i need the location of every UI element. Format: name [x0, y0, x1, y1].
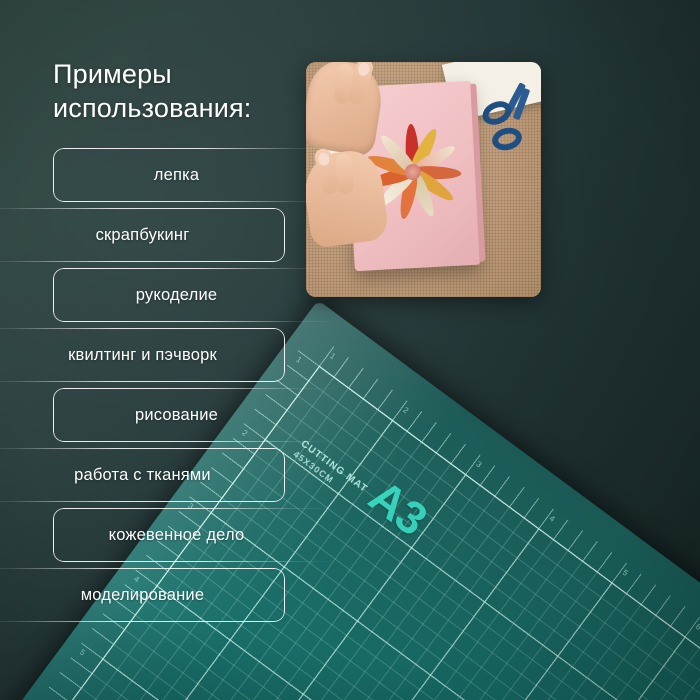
list-item-label: моделирование: [81, 586, 204, 605]
list-item-label: лепка: [154, 166, 200, 185]
list-item-label: скрапбукинг: [96, 226, 190, 245]
list-item[interactable]: работа с тканями: [0, 448, 285, 502]
list-item[interactable]: моделирование: [0, 568, 285, 622]
page-title: Примеры использования:: [53, 57, 323, 125]
page-title-line-1: Примеры: [53, 57, 323, 91]
usage-list: лепка скрапбукинг рукоделие квилтинг и п…: [0, 148, 300, 628]
list-item-label: квилтинг и пэчворк: [68, 346, 217, 365]
list-item[interactable]: лепка: [53, 148, 340, 202]
list-item[interactable]: квилтинг и пэчворк: [0, 328, 285, 382]
list-item-label: работа с тканями: [74, 466, 211, 485]
list-item[interactable]: рисование: [53, 388, 340, 442]
list-item[interactable]: кожевенное дело: [53, 508, 340, 562]
promo-banner: CUTTING MAT 45X30CM A3 12345678910111213…: [0, 0, 700, 700]
scrapbooking-photo: [306, 62, 541, 297]
list-item-label: рукоделие: [136, 286, 218, 305]
list-item[interactable]: скрапбукинг: [0, 208, 285, 262]
list-item-label: кожевенное дело: [109, 526, 245, 545]
list-item-label: рисование: [135, 406, 218, 425]
page-title-line-2: использования:: [53, 91, 323, 125]
list-item[interactable]: рукоделие: [53, 268, 340, 322]
